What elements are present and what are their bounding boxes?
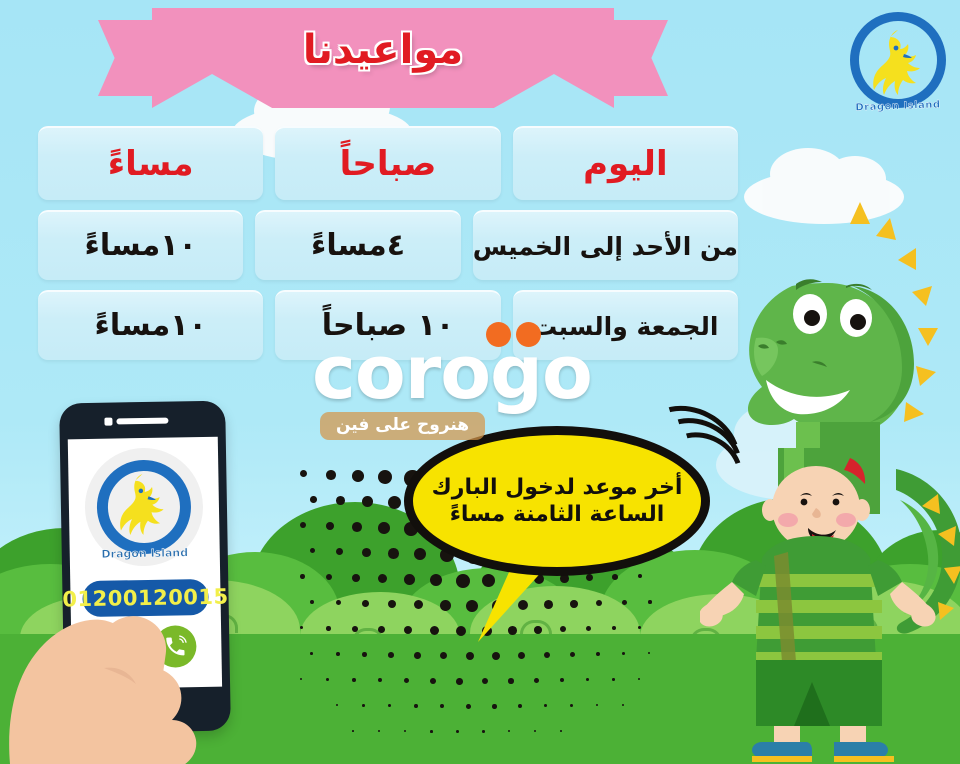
notice-line-1: أخر موعد لدخول البارك [432, 474, 683, 502]
table-row: الجمعة والسبت ١٠ صباحاً ١٠مساءً [38, 290, 738, 360]
header-cell-morning: صباحاً [275, 126, 500, 200]
dragon-head-icon [868, 26, 930, 96]
camera-icon [104, 418, 112, 426]
logo-label: Dragon Island [844, 99, 952, 114]
table-header-row: اليوم صباحاً مساءً [38, 126, 738, 200]
cell-day: من الأحد إلى الخميس [473, 210, 738, 280]
hand-illustration [0, 514, 300, 764]
page-title: مواعيدنا [152, 8, 614, 108]
poster-canvas: مواعيدنا Dragon Island اليوم صباحاً مساء… [0, 0, 960, 764]
cell-evening: ١٠مساءً [38, 210, 243, 280]
banner-ribbon: مواعيدنا [152, 8, 614, 108]
header-cell-evening: مساءً [38, 126, 263, 200]
brand-logo: Dragon Island [844, 6, 952, 114]
notice-line-2: الساعة الثامنة مساءً [450, 501, 665, 529]
cell-morning: ١٠ صباحاً [275, 290, 500, 360]
table-row: من الأحد إلى الخميس ٤مساءً ١٠مساءً [38, 210, 738, 280]
notice-speech-bubble: أخر موعد لدخول البارك الساعة الثامنة مسا… [404, 414, 722, 624]
bubble-body: أخر موعد لدخول البارك الساعة الثامنة مسا… [404, 426, 710, 576]
speaker-grill [116, 418, 168, 425]
header-cell-day: اليوم [513, 126, 738, 200]
cell-morning: ٤مساءً [255, 210, 460, 280]
schedule-table: اليوم صباحاً مساءً من الأحد إلى الخميس ٤… [38, 126, 738, 360]
cell-evening: ١٠مساءً [38, 290, 263, 360]
